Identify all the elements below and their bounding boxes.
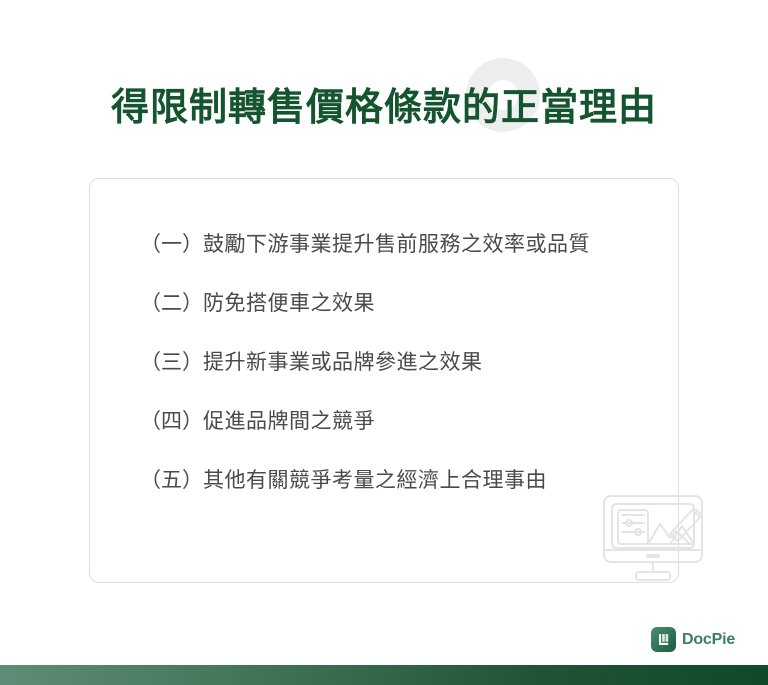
list-item-label: 促進品牌間之競爭 [203, 409, 375, 434]
page-title: 得限制轉售價格條款的正當理由 [0, 76, 768, 131]
list-item-marker: （三） [140, 350, 203, 375]
docpie-logo[interactable]: DocPie [651, 627, 735, 652]
list-item-label: 防免搭便車之效果 [203, 291, 375, 316]
list-item-marker: （四） [140, 409, 203, 434]
footer-gradient-bar [0, 665, 768, 685]
list-item-marker: （二） [140, 291, 203, 316]
reason-list: （一） 鼓勵下游事業提升售前服務之效率或品質 （二） 防免搭便車之效果 （三） … [140, 232, 660, 527]
list-item: （一） 鼓勵下游事業提升售前服務之效率或品質 [140, 232, 660, 291]
list-item-marker: （五） [140, 468, 203, 493]
list-item-marker: （一） [140, 232, 203, 257]
list-item-label: 鼓勵下游事業提升售前服務之效率或品質 [203, 232, 590, 257]
docpie-logo-text: DocPie [682, 631, 735, 649]
list-item-label: 其他有關競爭考量之經濟上合理事由 [203, 468, 547, 493]
list-item: （三） 提升新事業或品牌參進之效果 [140, 350, 660, 409]
list-item: （二） 防免搭便車之效果 [140, 291, 660, 350]
docpie-logo-mark-icon [651, 627, 676, 652]
list-item: （五） 其他有關競爭考量之經濟上合理事由 [140, 468, 660, 527]
list-item-label: 提升新事業或品牌參進之效果 [203, 350, 483, 375]
slide-canvas: 得限制轉售價格條款的正當理由 （一） 鼓勵下游事業提升售前服務之效率或品質 （二… [0, 0, 768, 685]
list-item: （四） 促進品牌間之競爭 [140, 409, 660, 468]
